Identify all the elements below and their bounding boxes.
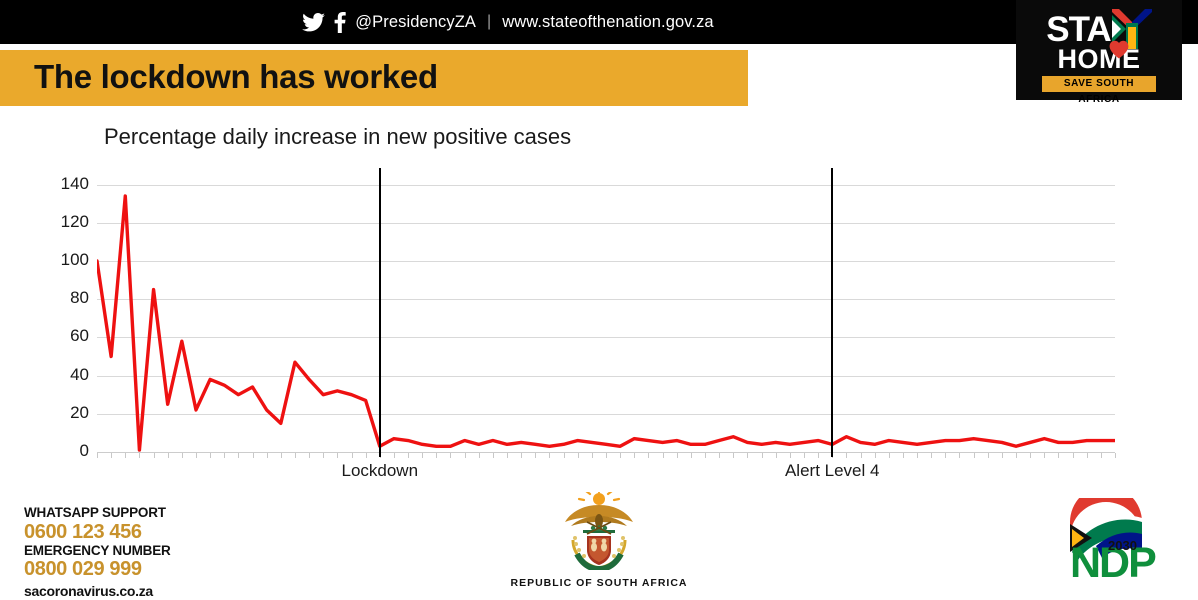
x-axis-tick: [578, 453, 579, 458]
x-axis-tick: [1101, 453, 1102, 458]
x-axis-tick: [889, 453, 890, 458]
annotation-line-alert-level-4: [831, 168, 833, 457]
x-axis-tick: [747, 453, 748, 458]
coat-of-arms-label: REPUBLIC OF SOUTH AFRICA: [479, 577, 719, 589]
chart-series-line: [97, 175, 1115, 452]
x-axis-tick: [804, 453, 805, 458]
separator: |: [487, 13, 491, 31]
footer-website[interactable]: sacoronavirus.co.za: [24, 583, 244, 599]
x-axis-tick: [917, 453, 918, 458]
y-axis-labels: 020406080100120140: [27, 175, 89, 452]
x-axis-tick: [394, 453, 395, 458]
x-axis-tick: [111, 453, 112, 458]
x-axis-tick: [323, 453, 324, 458]
x-axis-tick: [1030, 453, 1031, 458]
x-axis-tick: [733, 453, 734, 458]
x-axis-tick: [1073, 453, 1074, 458]
whatsapp-number: 0600 123 456: [24, 521, 244, 543]
x-axis-tick: [422, 453, 423, 458]
website-url: www.stateofthenation.gov.za: [502, 13, 714, 32]
x-axis-tick: [790, 453, 791, 458]
x-axis-tick: [861, 453, 862, 458]
x-axis-tick: [776, 453, 777, 458]
x-axis-tick: [168, 453, 169, 458]
x-axis-tick: [634, 453, 635, 458]
heart-icon: [1109, 40, 1129, 59]
x-axis-tick: [974, 453, 975, 458]
x-axis-tick: [125, 453, 126, 458]
x-axis-ticks: [97, 453, 1115, 459]
x-axis-tick: [663, 453, 664, 458]
x-axis-tick: [535, 453, 536, 458]
top-bar-content: @PresidencyZA | www.stateofthenation.gov…: [0, 0, 1016, 44]
save-south-africa-badge: SAVE SOUTH AFRICA: [1042, 76, 1156, 92]
x-axis-tick: [366, 453, 367, 458]
y-axis-tick-label: 80: [29, 288, 89, 308]
title-banner: The lockdown has worked: [0, 50, 748, 106]
x-axis-tick: [139, 453, 140, 458]
x-axis-tick: [564, 453, 565, 458]
x-axis-tick: [549, 453, 550, 458]
x-axis-tick: [154, 453, 155, 458]
y-axis-tick-label: 40: [29, 365, 89, 385]
x-axis-tick: [592, 453, 593, 458]
x-axis-tick: [465, 453, 466, 458]
x-axis-tick: [224, 453, 225, 458]
twitter-handle: @PresidencyZA: [355, 13, 476, 32]
x-axis-tick: [719, 453, 720, 458]
x-axis-tick: [818, 453, 819, 458]
x-axis-tick: [988, 453, 989, 458]
x-axis-tick: [196, 453, 197, 458]
x-axis-tick: [352, 453, 353, 458]
whatsapp-caption: WHATSAPP SUPPORT: [24, 505, 244, 521]
x-axis-tick: [1044, 453, 1045, 458]
facebook-f-icon[interactable]: [334, 12, 346, 33]
x-axis-tick: [408, 453, 409, 458]
stay-home-logo: STA HOME SAVE SOUTH AFRICA: [1016, 0, 1182, 100]
x-axis-tick: [182, 453, 183, 458]
x-axis-tick: [931, 453, 932, 458]
x-axis-tick: [267, 453, 268, 458]
y-axis-tick-label: 120: [29, 212, 89, 232]
x-axis-tick: [959, 453, 960, 458]
coat-of-arms-block: REPUBLIC OF SOUTH AFRICA: [479, 492, 719, 589]
chart-title: Percentage daily increase in new positiv…: [104, 124, 571, 150]
x-axis-tick: [875, 453, 876, 458]
y-axis-tick-label: 60: [29, 326, 89, 346]
x-axis-tick: [337, 453, 338, 458]
annotation-label-lockdown: Lockdown: [280, 461, 480, 481]
x-axis-tick: [691, 453, 692, 458]
x-axis-tick: [1016, 453, 1017, 458]
x-axis-tick: [450, 453, 451, 458]
x-axis-tick: [507, 453, 508, 458]
x-axis-tick: [945, 453, 946, 458]
x-axis-tick: [1058, 453, 1059, 458]
ndp-year: 2030: [1108, 538, 1137, 553]
x-axis-tick: [281, 453, 282, 458]
x-axis-tick: [903, 453, 904, 458]
x-axis-tick: [1087, 453, 1088, 458]
x-axis-tick: [620, 453, 621, 458]
stay-text: STA: [1046, 12, 1110, 47]
x-axis-tick: [295, 453, 296, 458]
x-axis-tick: [253, 453, 254, 458]
x-axis-tick: [479, 453, 480, 458]
y-axis-tick-label: 140: [29, 174, 89, 194]
x-axis-tick: [1115, 453, 1116, 458]
x-axis-tick: [705, 453, 706, 458]
y-axis-tick-label: 20: [29, 403, 89, 423]
x-axis-tick: [648, 453, 649, 458]
x-axis-tick: [210, 453, 211, 458]
x-axis-tick: [606, 453, 607, 458]
ndp-logo-block: 2030 NDP: [1056, 498, 1186, 590]
south-africa-coat-of-arms-icon: [553, 557, 645, 574]
x-axis-tick: [677, 453, 678, 458]
x-axis-tick: [846, 453, 847, 458]
twitter-bird-icon[interactable]: [302, 13, 325, 32]
x-axis-tick: [238, 453, 239, 458]
x-axis-tick: [309, 453, 310, 458]
x-axis-tick: [97, 453, 98, 458]
emergency-number: 0800 029 999: [24, 558, 244, 580]
x-axis-tick: [493, 453, 494, 458]
y-axis-tick-label: 100: [29, 250, 89, 270]
footer-contact-block: WHATSAPP SUPPORT 0600 123 456 EMERGENCY …: [24, 505, 244, 599]
home-text: HOME: [1016, 46, 1182, 73]
x-axis-tick: [436, 453, 437, 458]
emergency-caption: EMERGENCY NUMBER: [24, 543, 244, 559]
x-axis-tick: [762, 453, 763, 458]
x-axis-tick: [521, 453, 522, 458]
y-axis-tick-label: 0: [29, 441, 89, 461]
page-title: The lockdown has worked: [34, 58, 438, 96]
annotation-line-lockdown: [379, 168, 381, 457]
x-axis-tick: [1002, 453, 1003, 458]
annotation-label-alert-level-4: Alert Level 4: [732, 461, 932, 481]
